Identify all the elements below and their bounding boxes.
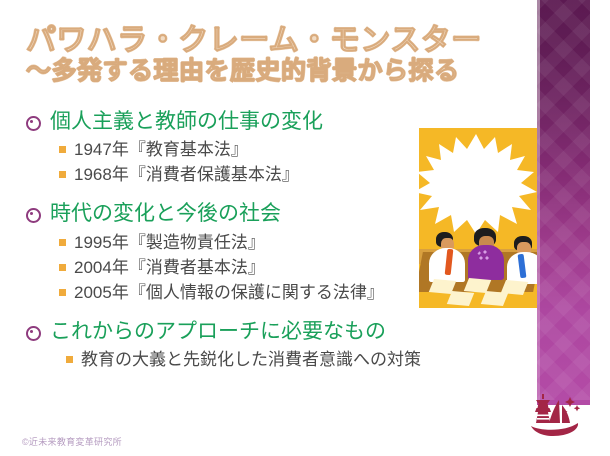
target-bullet-icon xyxy=(26,116,41,131)
bullet-group: これからのアプローチに必要なもの 教育の大義と先鋭化した消費者意識への対策 xyxy=(26,318,496,372)
target-bullet-icon xyxy=(26,208,41,223)
target-bullet-icon xyxy=(26,326,41,341)
band-highlight-edge xyxy=(537,0,540,400)
list-item-label: 1968年『消費者保護基本法』 xyxy=(74,163,299,187)
copyright-credit: ©近未来教育変革研究所 xyxy=(22,435,122,448)
list-item: 教育の大義と先鋭化した消費者意識への対策 xyxy=(66,348,496,372)
list-item-label: 1995年『製造物責任法』 xyxy=(74,231,265,255)
list-item-label: 教育の大義と先鋭化した消費者意識への対策 xyxy=(81,348,421,372)
list-item-label: 1947年『教育基本法』 xyxy=(74,138,248,162)
slide-canvas: パワハラ・クレーム・モンスター ～多発する理由を歴史的背景から探る 個人主義と教… xyxy=(0,0,610,456)
square-bullet-icon xyxy=(59,146,66,153)
speech-burst-icon xyxy=(419,132,537,236)
paper-sheet xyxy=(481,291,508,306)
square-bullet-icon xyxy=(59,264,66,271)
title-subtitle-line: ～多発する理由を歴史的背景から探る xyxy=(26,57,526,85)
lighthouse-sailboat-logo xyxy=(522,388,584,440)
meeting-discussion-clipart xyxy=(419,128,537,308)
bullet-heading-label: これからのアプローチに必要なもの xyxy=(50,318,386,346)
square-bullet-icon xyxy=(66,356,73,363)
bullet-heading-label: 個人主義と教師の仕事の変化 xyxy=(50,108,323,136)
square-bullet-icon xyxy=(59,289,66,296)
right-decorative-band xyxy=(537,0,590,400)
list-item-label: 2005年『個人情報の保護に関する法律』 xyxy=(74,281,384,305)
bullet-heading-label: 時代の変化と今後の社会 xyxy=(50,200,281,228)
page-title: パワハラ・クレーム・モンスター ～多発する理由を歴史的背景から探る xyxy=(26,24,526,85)
square-bullet-icon xyxy=(59,171,66,178)
collar-dots xyxy=(477,250,490,263)
square-bullet-icon xyxy=(59,239,66,246)
title-main-line: パワハラ・クレーム・モンスター xyxy=(26,24,526,58)
band-diamond-texture xyxy=(537,0,590,400)
bullet-heading: これからのアプローチに必要なもの xyxy=(26,318,496,346)
paper-sheet xyxy=(447,291,474,306)
list-item-label: 2004年『消費者基本法』 xyxy=(74,256,265,280)
